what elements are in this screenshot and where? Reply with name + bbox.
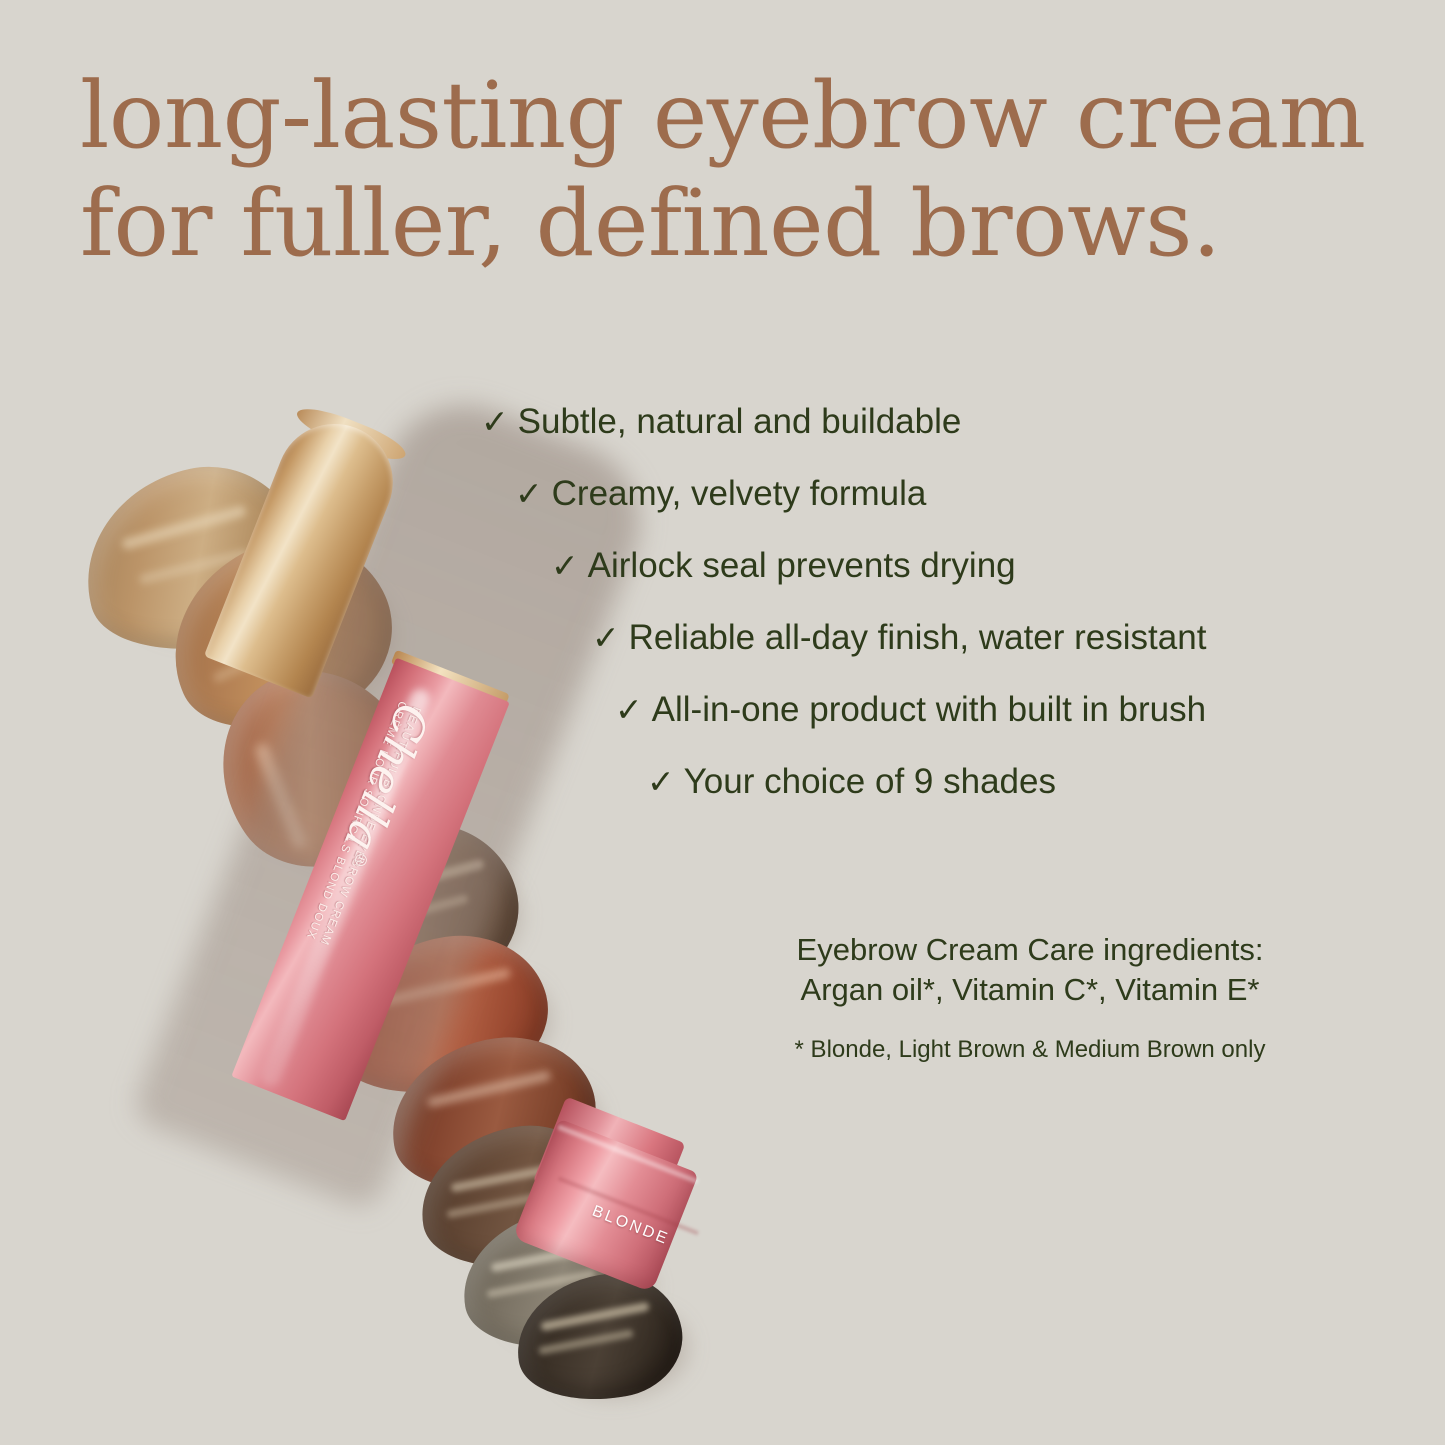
benefit-text: Subtle, natural and buildable xyxy=(518,402,962,441)
benefit-text: All-in-one product with built in brush xyxy=(652,690,1206,729)
ingredients-footnote: * Blonde, Light Brown & Medium Brown onl… xyxy=(700,1036,1360,1064)
benefit-text: Creamy, velvety formula xyxy=(552,474,927,513)
check-icon: ✓ xyxy=(515,477,543,510)
product-marketing-image: long-lasting eyebrow cream for fuller, d… xyxy=(0,0,1445,1445)
benefit-item: ✓All-in-one product with built in brush xyxy=(615,692,1445,727)
benefit-text: Reliable all-day finish, water resistant xyxy=(629,618,1207,657)
check-icon: ✓ xyxy=(647,765,675,798)
benefit-item: ✓Your choice of 9 shades xyxy=(647,764,1445,799)
benefit-item: ✓Subtle, natural and buildable xyxy=(481,404,1445,439)
benefit-text: Airlock seal prevents drying xyxy=(588,546,1016,585)
page-title: long-lasting eyebrow cream for fuller, d… xyxy=(80,62,1410,277)
ingredients-block: Eyebrow Cream Care ingredients: Argan oi… xyxy=(700,930,1360,1064)
benefit-item: ✓Creamy, velvety formula xyxy=(515,476,1445,511)
benefits-list: ✓Subtle, natural and buildable ✓Creamy, … xyxy=(0,404,1445,799)
swatch-espresso xyxy=(516,1276,682,1400)
check-icon: ✓ xyxy=(592,621,620,654)
headline-line-2: for fuller, defined brows. xyxy=(80,170,1410,278)
ingredients-line-1: Eyebrow Cream Care ingredients: xyxy=(700,930,1360,970)
headline-line-1: long-lasting eyebrow cream xyxy=(80,62,1410,170)
check-icon: ✓ xyxy=(551,549,579,582)
check-icon: ✓ xyxy=(615,693,643,726)
ingredients-line-2: Argan oil*, Vitamin C*, Vitamin E* xyxy=(700,970,1360,1010)
benefit-item: ✓Reliable all-day finish, water resistan… xyxy=(592,620,1445,655)
benefit-item: ✓Airlock seal prevents drying xyxy=(551,548,1445,583)
benefit-text: Your choice of 9 shades xyxy=(684,762,1056,801)
check-icon: ✓ xyxy=(481,405,509,438)
